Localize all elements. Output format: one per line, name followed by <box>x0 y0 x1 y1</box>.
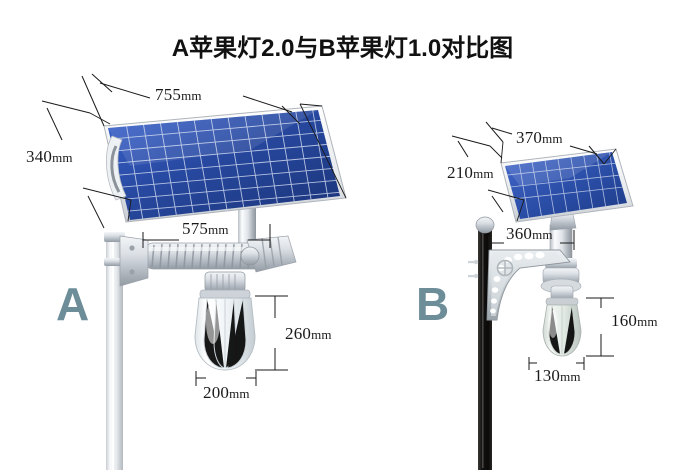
dim-label-210: 210mm <box>447 163 494 183</box>
dim-755-line-left <box>100 83 150 98</box>
dim-label-755: 755mm <box>155 85 202 105</box>
dim-value-160: 160 <box>611 311 637 330</box>
product-b-illustration <box>468 138 642 470</box>
dim-value-200: 200 <box>203 383 229 402</box>
dim-unit-575: mm <box>208 222 229 237</box>
product-a-illustration <box>100 89 366 470</box>
dim-value-130: 130 <box>534 366 560 385</box>
dim-label-260: 260mm <box>285 324 332 344</box>
product-label-b: B <box>416 281 449 327</box>
dim-unit-130: mm <box>560 369 581 384</box>
dim-value-370: 370 <box>516 128 542 147</box>
dim-210-tick-upper <box>452 136 490 146</box>
dim-370-witness-left <box>501 142 503 163</box>
dim-label-370: 370mm <box>516 128 563 148</box>
dim-340-line-upper <box>47 108 62 140</box>
dim-210-line-lower <box>492 196 503 212</box>
dim-label-130: 130mm <box>534 366 581 386</box>
dim-370-tick-left <box>486 122 503 142</box>
dim-340-witness-top <box>90 113 110 124</box>
dim-value-575: 575 <box>182 219 208 238</box>
dim-755-line-right <box>243 96 292 112</box>
dim-label-575: 575mm <box>182 219 229 239</box>
dim-755-witness-right-a <box>300 104 322 106</box>
dim-unit-370: mm <box>542 131 563 146</box>
lamp-a-ring <box>200 290 250 298</box>
dim-unit-340: mm <box>52 150 73 165</box>
dim-value-260: 260 <box>285 324 311 343</box>
dim-210-witness-top <box>490 146 502 158</box>
arm-a-pivot <box>241 247 259 265</box>
pole-b-cap <box>476 217 494 233</box>
product-label-a: A <box>56 281 89 327</box>
lamp-b-ring <box>546 298 578 305</box>
dim-value-340: 340 <box>26 147 52 166</box>
dim-755-tick-left <box>92 74 112 92</box>
dim-340-line-lower <box>88 196 104 228</box>
dim-label-340: 340mm <box>26 147 73 167</box>
dim-unit-210: mm <box>473 166 494 181</box>
lamp-head-b <box>543 286 581 356</box>
dim-340-tick-upper <box>42 101 90 113</box>
comparison-diagram: A苹果灯2.0与B苹果灯1.0对比图 <box>0 0 685 470</box>
lamp-b-highlight <box>549 310 558 338</box>
pole-b-highlight <box>482 232 484 468</box>
arm-a-mount-plate <box>120 236 148 286</box>
dim-unit-200: mm <box>229 386 250 401</box>
lamp-head-a <box>195 272 255 370</box>
dim-label-360: 360mm <box>506 224 553 244</box>
dim-value-755: 755 <box>155 85 181 104</box>
dim-unit-755: mm <box>181 88 202 103</box>
dim-unit-260: mm <box>311 327 332 342</box>
product-illustrations <box>0 0 685 470</box>
lamp-a-highlight <box>206 300 220 344</box>
dim-value-210: 210 <box>447 163 473 182</box>
pole-a-highlight <box>112 236 114 470</box>
dim-unit-360: mm <box>532 227 553 242</box>
dim-value-360: 360 <box>506 224 532 243</box>
dim-unit-160: mm <box>637 314 658 329</box>
dim-label-160: 160mm <box>611 311 658 331</box>
dim-210-line-upper <box>458 141 468 157</box>
dim-label-200: 200mm <box>203 383 250 403</box>
